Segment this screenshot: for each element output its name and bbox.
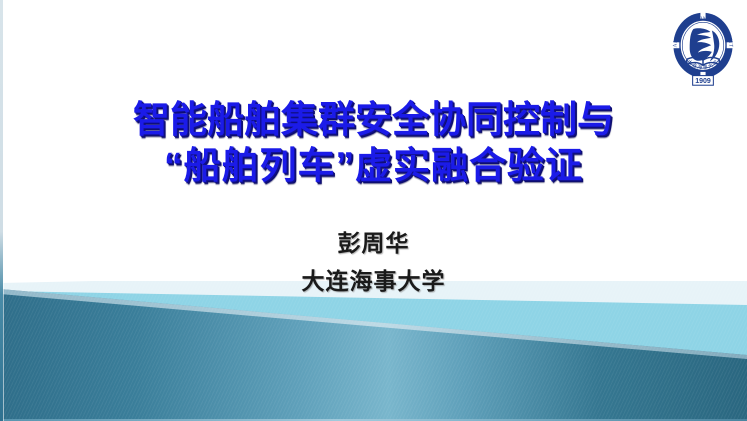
- title-slide: DALIAN MARITIME UNIVERSITY 大连海事大学 1909: [0, 0, 747, 421]
- svg-text:1909: 1909: [695, 78, 711, 85]
- university-emblem-icon: DALIAN MARITIME UNIVERSITY 大连海事大学 1909: [666, 2, 740, 90]
- slide-title: 智能船舶集群安全协同控制与 “船舶列车”虚实融合验证: [0, 97, 747, 189]
- wave-layer-dark: [0, 281, 747, 421]
- slide-title-line-1: 智能船舶集群安全协同控制与: [0, 97, 747, 143]
- left-accent-border-highlight: [3, 0, 4, 421]
- presenter-name: 彭周华: [0, 224, 747, 258]
- presenter-affiliation: 大连海事大学: [0, 262, 747, 296]
- slide-title-line-2: “船舶列车”虚实融合验证: [0, 143, 747, 189]
- wave-decoration: [0, 281, 747, 421]
